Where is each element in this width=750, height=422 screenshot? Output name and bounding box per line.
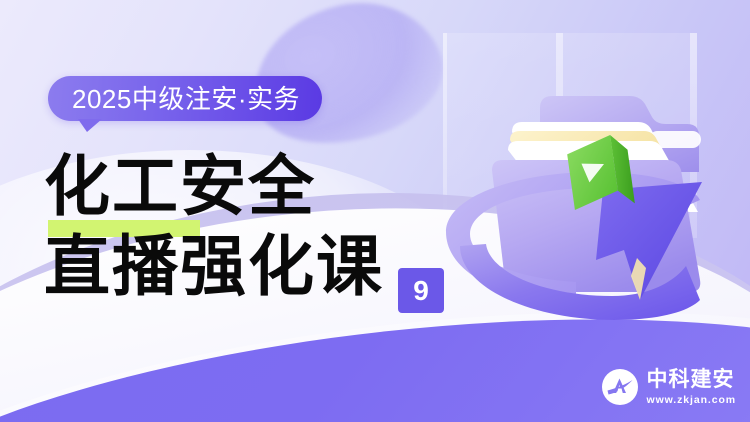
badge-tail [78,119,102,132]
title-line-1-text: 化工安全 [44,149,316,223]
brand-name: 中科建安 [647,369,735,390]
episode-number: 9 [413,277,429,305]
brand-logo: 中科建安 www.zkjan.com [601,368,737,406]
title-line-2-text: 直播强化课 [44,229,384,303]
course-illustration [400,0,750,350]
brand-url: www.zkjan.com [647,395,737,406]
course-poster: 2025中级注安·实务 化工安全 直播强化课 9 中科建安 www.zkja [0,0,750,422]
course-category-badge: 2025中级注安·实务 [48,76,322,121]
badge-bubble: 2025中级注安·实务 [48,76,322,121]
brand-mark-icon [601,368,639,406]
title-line-2: 直播强化课 [44,230,384,304]
badge-label: 2025中级注安·实务 [72,86,300,112]
page-title: 化工安全 直播强化课 [44,150,384,304]
title-line-1: 化工安全 [44,150,384,224]
episode-number-badge: 9 [398,268,444,313]
brand-text-block: 中科建安 www.zkjan.com [647,369,737,406]
